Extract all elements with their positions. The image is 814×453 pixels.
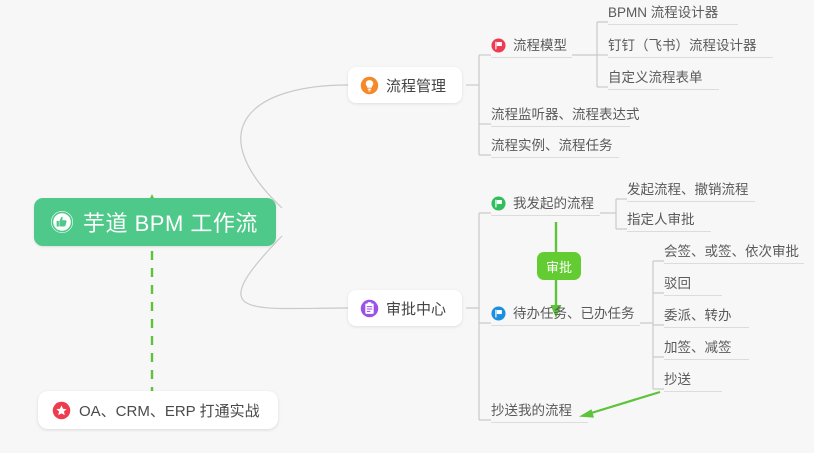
leaf-start-cancel-process[interactable]: 发起流程、撤销流程 xyxy=(627,176,755,202)
branch-label: 审批中心 xyxy=(386,298,446,319)
flag-green-icon xyxy=(491,196,506,211)
leaf-dingtalk-designer[interactable]: 钉钉（飞书）流程设计器 xyxy=(608,32,773,58)
thumbs-up-icon xyxy=(50,210,74,234)
branch-label: 流程管理 xyxy=(386,75,446,96)
leaf-process-instance[interactable]: 流程实例、流程任务 xyxy=(491,132,619,158)
leaf-label: 加签、减签 xyxy=(664,340,732,356)
approval-flow-tag: 审批 xyxy=(537,252,581,280)
lightbulb-icon xyxy=(360,76,379,95)
leaf-label: 流程监听器、流程表达式 xyxy=(491,107,640,123)
leaf-label: 流程实例、流程任务 xyxy=(491,138,613,154)
leaf-custom-form[interactable]: 自定义流程表单 xyxy=(608,64,719,90)
leaf-label: 待办任务、已办任务 xyxy=(513,306,635,322)
leaf-label: 委派、转办 xyxy=(664,308,732,324)
promo-label: OA、CRM、ERP 打通实战 xyxy=(79,400,260,421)
leaf-label: 抄送 xyxy=(664,372,691,388)
promo-node[interactable]: OA、CRM、ERP 打通实战 xyxy=(38,391,278,429)
leaf-label: 驳回 xyxy=(664,276,691,292)
flag-blue-icon xyxy=(491,306,506,321)
leaf-todo-done-tasks[interactable]: 待办任务、已办任务 xyxy=(491,300,640,326)
leaf-countersign[interactable]: 会签、或签、依次审批 xyxy=(664,238,804,264)
star-icon xyxy=(52,401,71,420)
root-label: 芋道 BPM 工作流 xyxy=(83,206,258,238)
leaf-label: 我发起的流程 xyxy=(513,196,594,212)
leaf-add-remove-sign[interactable]: 加签、减签 xyxy=(664,334,749,360)
leaf-cc-to-me[interactable]: 抄送我的流程 xyxy=(491,397,588,423)
root-node[interactable]: 芋道 BPM 工作流 xyxy=(34,198,276,246)
leaf-process-listener[interactable]: 流程监听器、流程表达式 xyxy=(491,101,630,127)
leaf-label: 指定人审批 xyxy=(627,212,695,228)
leaf-bpmn-designer[interactable]: BPMN 流程设计器 xyxy=(608,0,738,25)
leaf-my-initiated[interactable]: 我发起的流程 xyxy=(491,190,600,216)
leaf-label: BPMN 流程设计器 xyxy=(608,5,718,21)
leaf-label: 会签、或签、依次审批 xyxy=(664,244,799,260)
leaf-cc[interactable]: 抄送 xyxy=(664,366,722,392)
leaf-delegate-transfer[interactable]: 委派、转办 xyxy=(664,302,749,328)
branch-process-management[interactable]: 流程管理 xyxy=(348,67,462,103)
leaf-process-model[interactable]: 流程模型 xyxy=(491,32,572,58)
approval-flow-tag-label: 审批 xyxy=(546,257,572,276)
leaf-label: 抄送我的流程 xyxy=(491,403,572,419)
leaf-reject[interactable]: 驳回 xyxy=(664,270,722,296)
leaf-label: 自定义流程表单 xyxy=(608,70,703,86)
mindmap-canvas: 芋道 BPM 工作流 OA、CRM、ERP 打通实战 流程管理 xyxy=(0,0,814,453)
leaf-label: 发起流程、撤销流程 xyxy=(627,182,749,198)
leaf-label: 流程模型 xyxy=(513,38,567,54)
branch-approval-center[interactable]: 审批中心 xyxy=(348,290,462,326)
flag-red-icon xyxy=(491,38,506,53)
clipboard-icon xyxy=(360,299,379,318)
leaf-assigned-approval[interactable]: 指定人审批 xyxy=(627,206,711,232)
leaf-label: 钉钉（飞书）流程设计器 xyxy=(608,38,757,54)
